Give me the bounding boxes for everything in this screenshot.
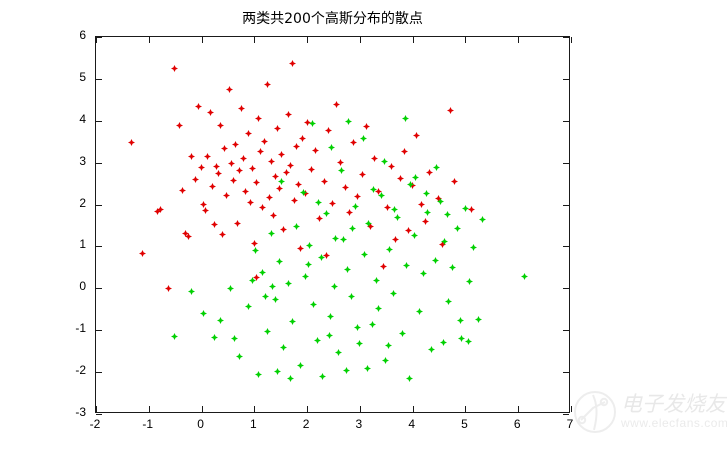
scatter-point-class-1 (435, 189, 442, 196)
scatter-point-class-2 (521, 267, 528, 274)
x-axis-tick-top (307, 37, 308, 43)
scatter-point-class-2 (315, 193, 322, 200)
scatter-point-class-1 (176, 116, 183, 123)
scatter-point-class-1 (232, 135, 239, 142)
y-axis-tick (96, 372, 102, 373)
scatter-point-class-1 (291, 191, 298, 198)
x-axis-label: 1 (233, 417, 273, 431)
scatter-point-class-2 (466, 272, 473, 279)
scatter-point-class-2 (356, 334, 363, 341)
scatter-point-class-2 (335, 343, 342, 350)
scatter-point-class-2 (276, 252, 283, 259)
scatter-point-class-2 (445, 292, 452, 299)
chart-title: 两类共200个高斯分布的散点 (95, 8, 570, 28)
scatter-point-class-2 (328, 138, 335, 145)
scatter-point-class-1 (426, 163, 433, 170)
y-axis-label: 6 (46, 28, 86, 42)
scatter-plot-area (96, 37, 569, 412)
scatter-point-class-2 (326, 326, 333, 333)
y-axis-tick-right (563, 330, 569, 331)
scatter-point-class-2 (403, 256, 410, 263)
scatter-point-class-1 (211, 215, 218, 222)
x-axis-tick (360, 406, 361, 412)
scatter-point-class-2 (344, 260, 351, 267)
scatter-point-class-2 (211, 328, 218, 335)
scatter-point-class-1 (253, 173, 260, 180)
scatter-point-class-2 (287, 369, 294, 376)
scatter-point-class-2 (280, 338, 287, 345)
scatter-point-class-1 (397, 169, 404, 176)
scatter-point-class-2 (274, 362, 281, 369)
figure-canvas: 两类共200个高斯分布的散点 -2-101234567-3-2-10123456… (0, 0, 727, 450)
y-axis-tick-right (563, 372, 569, 373)
x-axis-tick (518, 406, 519, 412)
x-axis-label: 4 (392, 417, 432, 431)
scatter-point-class-1 (289, 54, 296, 61)
scatter-point-class-2 (200, 304, 207, 311)
scatter-point-class-1 (128, 133, 135, 140)
scatter-point-class-2 (390, 284, 397, 291)
scatter-point-class-1 (350, 133, 357, 140)
scatter-point-class-2 (269, 277, 276, 284)
scatter-point-class-1 (272, 167, 279, 174)
y-axis-tick-right (563, 163, 569, 164)
scatter-point-class-2 (365, 214, 372, 221)
scatter-point-class-2 (440, 333, 447, 340)
scatter-point-class-1 (230, 171, 237, 178)
scatter-point-class-2 (348, 287, 355, 294)
scatter-point-class-1 (226, 80, 233, 87)
scatter-point-class-1 (316, 209, 323, 216)
scatter-point-class-2 (314, 331, 321, 338)
y-axis-label: 1 (46, 237, 86, 251)
scatter-point-class-1 (238, 99, 245, 106)
scatter-point-class-1 (253, 268, 260, 275)
scatter-point-class-1 (228, 154, 235, 161)
x-axis-tick (465, 406, 466, 412)
scatter-point-class-1 (451, 172, 458, 179)
scatter-point-class-1 (308, 160, 315, 167)
scatter-point-class-1 (418, 195, 425, 202)
scatter-point-class-1 (182, 224, 189, 231)
scatter-point-class-1 (283, 163, 290, 170)
x-axis-tick-top (465, 37, 466, 43)
y-axis-tick (96, 330, 102, 331)
scatter-point-class-1 (409, 176, 416, 183)
scatter-point-class-2 (458, 329, 465, 336)
scatter-point-class-2 (278, 172, 285, 179)
scatter-point-class-1 (342, 178, 349, 185)
scatter-point-class-2 (411, 226, 418, 233)
scatter-point-class-2 (323, 204, 330, 211)
y-axis-tick-right (563, 37, 569, 38)
scatter-point-class-2 (349, 219, 356, 226)
scatter-point-class-1 (285, 105, 292, 112)
y-axis-label: 0 (46, 279, 86, 293)
scatter-point-class-1 (188, 147, 195, 154)
scatter-point-class-1 (346, 203, 353, 210)
plot-axes-box (95, 36, 570, 413)
scatter-point-class-2 (420, 264, 427, 271)
y-axis-label: 3 (46, 154, 86, 168)
x-axis-label: -2 (75, 417, 115, 431)
scatter-point-class-1 (217, 116, 224, 123)
scatter-point-class-1 (302, 184, 309, 191)
y-axis-tick-right (563, 79, 569, 80)
scatter-point-class-2 (310, 295, 317, 302)
scatter-point-class-1 (312, 141, 319, 148)
scatter-point-class-2 (369, 315, 376, 322)
scatter-point-class-1 (323, 246, 330, 253)
scatter-point-class-1 (204, 147, 211, 154)
scatter-point-class-1 (157, 200, 164, 207)
y-axis-tick-right (563, 205, 569, 206)
scatter-point-class-1 (422, 212, 429, 219)
scatter-point-class-1 (223, 186, 230, 193)
scatter-point-class-2 (391, 200, 398, 207)
scatter-point-class-2 (300, 183, 307, 190)
x-axis-label: -1 (128, 417, 168, 431)
scatter-point-class-1 (219, 225, 226, 232)
y-axis-tick (96, 79, 102, 80)
x-axis-tick-top (571, 37, 572, 43)
x-axis-tick-top (413, 37, 414, 43)
x-axis-tick-top (202, 37, 203, 43)
scatter-point-class-2 (370, 180, 377, 187)
x-axis-tick (96, 406, 97, 412)
scatter-point-class-2 (345, 112, 352, 119)
scatter-point-class-1 (278, 145, 285, 152)
scatter-point-class-1 (439, 235, 446, 242)
scatter-point-class-2 (412, 168, 419, 175)
scatter-point-class-2 (444, 205, 451, 212)
scatter-point-class-2 (245, 297, 252, 304)
scatter-point-class-1 (236, 161, 243, 168)
scatter-point-class-2 (352, 197, 359, 204)
scatter-point-class-1 (274, 119, 281, 126)
scatter-point-class-2 (423, 184, 430, 191)
scatter-point-class-1 (276, 179, 283, 186)
scatter-point-class-1 (371, 149, 378, 156)
scatter-point-class-2 (338, 161, 345, 168)
scatter-point-class-2 (385, 336, 392, 343)
scatter-point-class-2 (386, 240, 393, 247)
scatter-point-class-2 (262, 287, 269, 294)
scatter-point-class-2 (437, 192, 444, 199)
scatter-point-class-2 (465, 332, 472, 339)
scatter-point-class-1 (388, 157, 395, 164)
scatter-point-class-2 (432, 251, 439, 258)
scatter-point-class-1 (207, 103, 214, 110)
scatter-point-class-1 (185, 227, 192, 234)
scatter-point-class-2 (332, 229, 339, 236)
y-axis-tick (96, 121, 102, 122)
x-axis-label: 3 (339, 417, 379, 431)
scatter-point-class-2 (394, 208, 401, 215)
scatter-point-class-1 (209, 177, 216, 184)
scatter-point-class-2 (364, 359, 371, 366)
scatter-point-class-1 (363, 117, 370, 124)
scatter-point-class-1 (154, 202, 161, 209)
y-axis-tick-right (563, 414, 569, 415)
scatter-point-class-1 (293, 137, 300, 144)
scatter-point-class-1 (380, 257, 387, 264)
scatter-point-class-1 (329, 194, 336, 201)
scatter-point-class-2 (272, 290, 279, 297)
scatter-point-class-2 (297, 356, 304, 363)
scatter-point-class-1 (264, 75, 271, 82)
scatter-point-class-1 (270, 206, 277, 213)
y-axis-label: -3 (46, 405, 86, 419)
scatter-point-class-1 (280, 220, 287, 227)
scatter-point-class-2 (217, 311, 224, 318)
x-axis-tick-top (360, 37, 361, 43)
scatter-point-class-2 (171, 327, 178, 334)
scatter-point-class-1 (384, 198, 391, 205)
y-axis-label: 5 (46, 70, 86, 84)
x-axis-tick-top (254, 37, 255, 43)
scatter-point-class-1 (375, 182, 382, 189)
scatter-point-class-2 (433, 158, 440, 165)
scatter-point-class-2 (479, 210, 486, 217)
x-axis-tick-top (518, 37, 519, 43)
scatter-point-class-2 (381, 152, 388, 159)
x-axis-tick (254, 406, 255, 412)
scatter-point-class-1 (261, 132, 268, 139)
scatter-point-class-1 (321, 172, 328, 179)
scatter-point-class-1 (413, 126, 420, 133)
scatter-point-class-1 (266, 188, 273, 195)
scatter-point-class-2 (289, 312, 296, 319)
scatter-point-class-1 (359, 165, 366, 172)
scatter-point-class-2 (306, 236, 313, 243)
scatter-point-class-2 (268, 224, 275, 231)
scatter-point-class-2 (416, 302, 423, 309)
y-axis-tick (96, 288, 102, 289)
scatter-point-class-2 (407, 175, 414, 182)
x-axis-label: 0 (181, 417, 221, 431)
x-axis-label: 5 (444, 417, 484, 431)
scatter-point-class-2 (343, 361, 350, 368)
watermark-url: www.elecfans.com (621, 416, 727, 430)
scatter-point-class-1 (240, 149, 247, 156)
scatter-point-class-1 (202, 201, 209, 208)
scatter-point-class-1 (165, 279, 172, 286)
scatter-point-class-2 (236, 347, 243, 354)
scatter-point-class-1 (333, 95, 340, 102)
scatter-point-class-1 (401, 142, 408, 149)
site-watermark: 电子发烧友 www.elecfans.com (571, 382, 719, 444)
y-axis-tick (96, 246, 102, 247)
scatter-point-class-1 (304, 113, 311, 120)
scatter-point-class-2 (327, 307, 334, 314)
x-axis-label: 7 (550, 417, 590, 431)
scatter-point-class-2 (227, 279, 234, 286)
x-axis-label: 2 (286, 417, 326, 431)
scatter-point-class-1 (337, 153, 344, 160)
scatter-point-class-2 (309, 114, 316, 121)
scatter-point-class-1 (299, 129, 306, 136)
scatter-point-class-2 (318, 248, 325, 255)
y-axis-label: 4 (46, 112, 86, 126)
scatter-point-class-2 (449, 258, 456, 265)
scatter-point-class-2 (319, 367, 326, 374)
scatter-point-class-2 (255, 365, 262, 372)
y-axis-label: 2 (46, 196, 86, 210)
scatter-point-class-2 (361, 245, 368, 252)
y-axis-tick (96, 414, 102, 415)
scatter-point-class-1 (179, 181, 186, 188)
scatter-point-class-2 (331, 277, 338, 284)
scatter-point-class-2 (428, 340, 435, 347)
scatter-point-class-2 (382, 351, 389, 358)
scatter-point-class-1 (392, 230, 399, 237)
y-axis-tick-right (563, 246, 569, 247)
scatter-point-class-2 (340, 230, 347, 237)
scatter-point-class-2 (252, 241, 259, 248)
scatter-point-class-2 (454, 219, 461, 226)
scatter-point-class-2 (293, 217, 300, 224)
y-axis-tick-right (563, 288, 569, 289)
scatter-point-class-1 (255, 109, 262, 116)
scatter-point-class-2 (406, 369, 413, 376)
scatter-point-class-2 (475, 310, 482, 317)
scatter-point-class-2 (360, 129, 367, 136)
x-axis-tick (307, 406, 308, 412)
scatter-point-class-1 (195, 97, 202, 104)
scatter-point-class-2 (462, 199, 469, 206)
scatter-point-class-2 (424, 203, 431, 210)
scatter-point-class-1 (325, 121, 332, 128)
scatter-point-class-2 (305, 255, 312, 262)
scatter-point-class-2 (441, 232, 448, 239)
scatter-point-class-1 (468, 200, 475, 207)
scatter-point-class-2 (249, 271, 256, 278)
scatter-point-class-2 (470, 238, 477, 245)
scatter-point-class-2 (373, 271, 380, 278)
scatter-point-class-1 (200, 195, 207, 202)
scatter-point-class-1 (215, 164, 222, 171)
scatter-point-class-1 (268, 152, 275, 159)
y-axis-label: -2 (46, 363, 86, 377)
watermark-brand: 电子发烧友 (621, 388, 726, 418)
scatter-point-class-2 (378, 186, 385, 193)
scatter-point-class-1 (251, 234, 258, 241)
scatter-point-class-1 (249, 159, 256, 166)
x-axis-tick-top (149, 37, 150, 43)
scatter-point-class-2 (285, 274, 292, 281)
scatter-point-class-2 (402, 109, 409, 116)
scatter-point-class-1 (287, 156, 294, 163)
x-axis-label: 6 (497, 417, 537, 431)
x-axis-tick (413, 406, 414, 412)
scatter-point-class-1 (192, 170, 199, 177)
scatter-point-class-2 (399, 324, 406, 331)
scatter-point-class-1 (242, 182, 249, 189)
y-axis-tick (96, 37, 102, 38)
y-axis-label: -1 (46, 321, 86, 335)
scatter-point-class-1 (213, 157, 220, 164)
scatter-point-class-2 (354, 318, 361, 325)
scatter-point-class-1 (354, 187, 361, 194)
y-axis-tick-right (563, 121, 569, 122)
scatter-point-class-1 (234, 214, 241, 221)
scatter-point-class-1 (139, 244, 146, 251)
scatter-point-class-2 (264, 322, 271, 329)
scatter-point-class-2 (259, 263, 266, 270)
scatter-point-class-2 (302, 267, 309, 274)
x-axis-tick (149, 406, 150, 412)
x-axis-tick (202, 406, 203, 412)
scatter-point-class-1 (171, 59, 178, 66)
scatter-point-class-1 (221, 139, 228, 146)
scatter-point-class-1 (259, 198, 266, 205)
scatter-point-class-1 (405, 221, 412, 228)
scatter-point-class-1 (245, 124, 252, 131)
scatter-point-class-1 (257, 142, 264, 149)
scatter-point-class-2 (375, 299, 382, 306)
scatter-point-class-2 (231, 329, 238, 336)
scatter-point-class-1 (198, 158, 205, 165)
scatter-point-class-2 (457, 311, 464, 318)
scatter-point-class-1 (297, 239, 304, 246)
scatter-point-class-1 (447, 101, 454, 108)
y-axis-tick (96, 163, 102, 164)
x-axis-tick (571, 406, 572, 412)
scatter-point-class-2 (188, 282, 195, 289)
scatter-point-class-1 (247, 193, 254, 200)
scatter-point-class-1 (367, 217, 374, 224)
scatter-point-class-1 (295, 175, 302, 182)
y-axis-tick (96, 205, 102, 206)
